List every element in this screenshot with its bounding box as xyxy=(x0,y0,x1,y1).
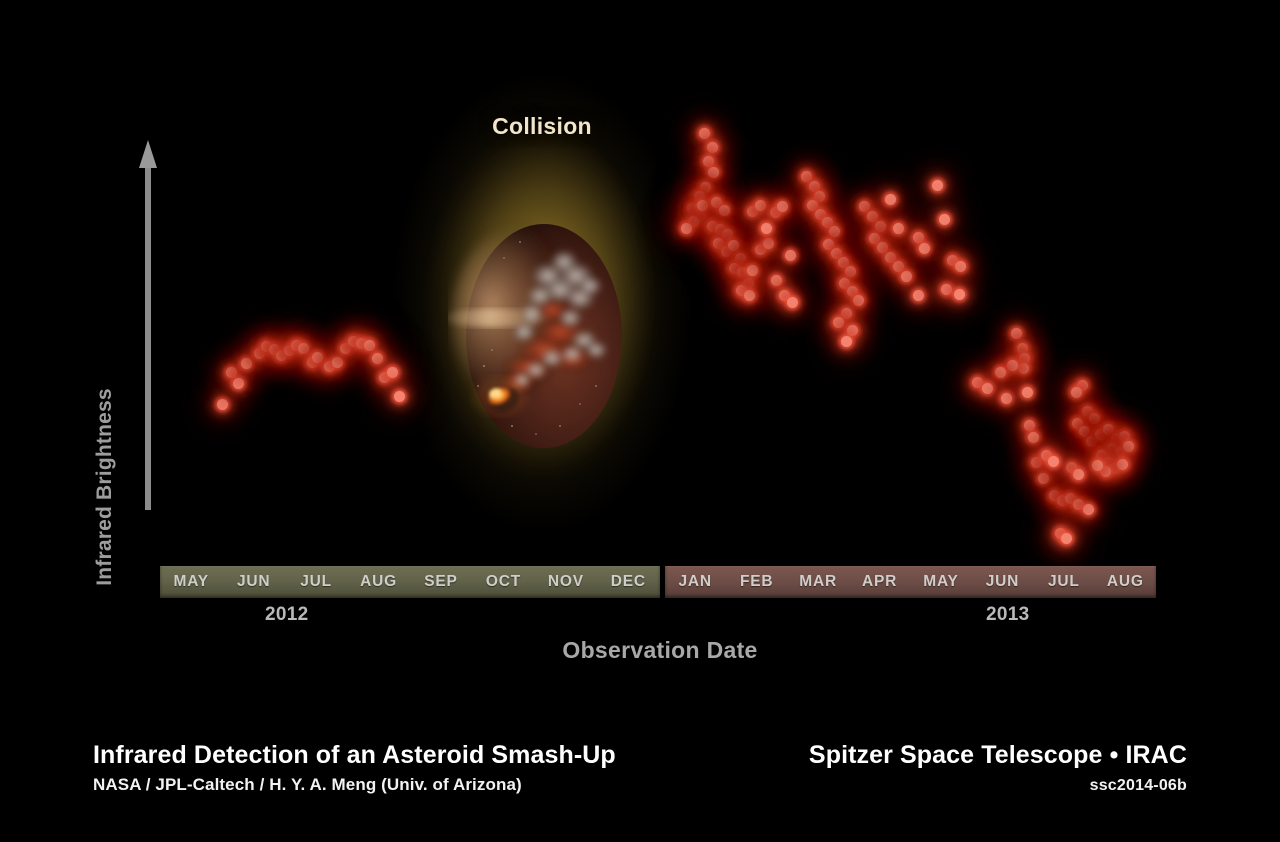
data-point xyxy=(841,308,852,319)
data-point xyxy=(787,297,798,308)
footer-left: Infrared Detection of an Asteroid Smash-… xyxy=(93,740,616,795)
timeline-month-may-2013: MAY xyxy=(910,566,971,598)
data-point xyxy=(913,290,924,301)
data-point xyxy=(737,267,748,278)
timeline-month-jun-2012: JUN xyxy=(222,566,284,598)
collision-glow-backdrop xyxy=(392,0,692,560)
data-point xyxy=(913,232,924,243)
data-point xyxy=(941,284,952,295)
data-point xyxy=(763,238,774,249)
data-point xyxy=(901,271,912,282)
data-point xyxy=(807,200,818,211)
figure-credit: NASA / JPL-Caltech / H. Y. A. Meng (Univ… xyxy=(93,775,616,795)
data-point xyxy=(1024,420,1035,431)
data-point xyxy=(694,191,705,202)
year-label-2013: 2013 xyxy=(986,604,1029,626)
data-point xyxy=(939,214,950,225)
timeline-month-jul-2012: JUL xyxy=(285,566,347,598)
data-point xyxy=(707,221,718,232)
data-point xyxy=(729,263,740,274)
data-point xyxy=(332,357,343,368)
timeline-month-jun-2013: JUN xyxy=(972,566,1033,598)
timeline-month-feb-2013: FEB xyxy=(726,566,787,598)
timeline-month-sep-2012: SEP xyxy=(410,566,472,598)
data-point xyxy=(356,338,367,349)
data-point xyxy=(853,295,864,306)
data-point xyxy=(1079,426,1090,437)
year-label-2012: 2012 xyxy=(265,604,308,626)
data-point xyxy=(324,361,335,372)
data-point xyxy=(364,340,375,351)
footer: Infrared Detection of an Asteroid Smash-… xyxy=(0,740,1280,820)
data-point xyxy=(841,336,852,347)
data-point xyxy=(747,206,758,217)
data-point xyxy=(839,278,850,289)
data-point xyxy=(1017,343,1028,354)
data-point xyxy=(761,223,772,234)
instrument-label: Spitzer Space Telescope • IRAC xyxy=(809,740,1187,771)
data-point xyxy=(1089,413,1100,424)
data-point xyxy=(298,343,309,354)
data-point xyxy=(1028,432,1039,443)
data-point xyxy=(700,182,711,193)
timeline-month-aug-2013: AUG xyxy=(1095,566,1156,598)
timeline-segment-2012: MAYJUNJULAUGSEPOCTNOVDEC xyxy=(160,566,660,598)
data-point xyxy=(1103,457,1114,468)
data-point xyxy=(1031,457,1042,468)
data-point xyxy=(1082,406,1093,417)
data-point xyxy=(715,224,726,235)
data-point xyxy=(1096,450,1107,461)
data-point xyxy=(728,240,739,251)
data-point xyxy=(394,391,405,402)
data-point xyxy=(1100,466,1111,477)
collision-annotation-label: Collision xyxy=(392,113,692,140)
data-point xyxy=(809,181,820,192)
data-point xyxy=(1061,533,1072,544)
data-point xyxy=(1092,460,1103,471)
data-point xyxy=(744,290,755,301)
data-point xyxy=(1001,393,1012,404)
timeline-month-may-2012: MAY xyxy=(160,566,222,598)
data-point xyxy=(847,286,858,297)
data-point xyxy=(893,223,904,234)
data-point xyxy=(312,352,323,363)
data-point xyxy=(703,156,714,167)
data-point xyxy=(785,250,796,261)
data-point xyxy=(1077,380,1088,391)
data-point xyxy=(1011,328,1022,339)
data-point xyxy=(687,203,698,214)
data-point xyxy=(779,290,790,301)
data-point xyxy=(1115,447,1126,458)
data-point xyxy=(1007,360,1018,371)
data-point xyxy=(829,226,840,237)
data-point xyxy=(721,246,732,257)
timeline-segment-2013: JANFEBMARAPRMAYJUNJULAUG xyxy=(665,566,1157,598)
data-point xyxy=(1103,424,1114,435)
data-point xyxy=(982,383,993,394)
data-point xyxy=(387,367,398,378)
data-point xyxy=(1019,353,1030,364)
data-point xyxy=(348,336,359,347)
data-point xyxy=(1073,469,1084,480)
data-point xyxy=(1095,429,1106,440)
timeline-month-jan-2013: JAN xyxy=(665,566,726,598)
data-point xyxy=(1109,463,1120,474)
data-point xyxy=(743,278,754,289)
data-point xyxy=(885,252,896,263)
data-point xyxy=(1107,443,1118,454)
data-point xyxy=(867,211,878,222)
data-point xyxy=(735,253,746,264)
asteroid-collision-artwork xyxy=(448,190,638,470)
data-point xyxy=(1073,499,1084,510)
data-point xyxy=(1086,436,1097,447)
data-point xyxy=(372,353,383,364)
data-point xyxy=(822,217,833,228)
data-point xyxy=(713,238,724,249)
data-point xyxy=(1049,490,1060,501)
timeline-month-jul-2013: JUL xyxy=(1033,566,1094,598)
data-point xyxy=(755,244,766,255)
data-point xyxy=(932,180,943,191)
data-point xyxy=(1057,495,1068,506)
data-point xyxy=(771,275,782,286)
data-point xyxy=(875,221,886,232)
data-point xyxy=(695,210,706,221)
data-point xyxy=(919,243,930,254)
data-point xyxy=(1038,473,1049,484)
data-point xyxy=(995,367,1006,378)
timeline-month-apr-2013: APR xyxy=(849,566,910,598)
timeline-month-aug-2012: AUG xyxy=(347,566,409,598)
timeline-month-mar-2013: MAR xyxy=(787,566,848,598)
data-point xyxy=(1066,462,1077,473)
data-point xyxy=(815,209,826,220)
data-point xyxy=(707,142,718,153)
timeline-axis: MAYJUNJULAUGSEPOCTNOVDEC JANFEBMARAPRMAY… xyxy=(160,566,1156,598)
x-axis-title-container: Observation Date xyxy=(0,637,1280,664)
image-release-id: ssc2014-06b xyxy=(809,777,1187,795)
data-point xyxy=(1083,504,1094,515)
data-point xyxy=(711,197,722,208)
data-point xyxy=(877,242,888,253)
y-axis-label: Infrared Brightness xyxy=(93,357,117,617)
figure-title: Infrared Detection of an Asteroid Smash-… xyxy=(93,740,616,771)
timeline-month-nov-2012: NOV xyxy=(535,566,597,598)
data-point xyxy=(847,325,858,336)
data-point xyxy=(699,128,710,139)
footer-right: Spitzer Space Telescope • IRAC ssc2014-0… xyxy=(809,740,1187,795)
data-point xyxy=(801,171,812,182)
data-point xyxy=(1041,450,1052,461)
data-point xyxy=(747,265,758,276)
data-point xyxy=(885,194,896,205)
data-point xyxy=(955,261,966,272)
data-point xyxy=(719,205,730,216)
data-point xyxy=(1055,528,1066,539)
data-point xyxy=(972,377,983,388)
figure-canvas: Collision Infrared Brightness MAYJUNJULA… xyxy=(0,0,1280,842)
data-point xyxy=(1119,431,1130,442)
data-point xyxy=(777,201,788,212)
data-point xyxy=(697,200,708,211)
data-point xyxy=(722,229,733,240)
data-point xyxy=(681,223,692,234)
data-point xyxy=(307,357,318,368)
data-point xyxy=(340,343,351,354)
data-point xyxy=(708,167,719,178)
timeline-month-dec-2012: DEC xyxy=(597,566,659,598)
data-point xyxy=(869,233,880,244)
data-point xyxy=(1111,433,1122,444)
data-point xyxy=(893,261,904,272)
data-point xyxy=(1072,418,1083,429)
data-point xyxy=(1117,459,1128,470)
data-point xyxy=(833,317,844,328)
data-point xyxy=(954,289,965,300)
x-axis-title: Observation Date xyxy=(562,637,757,663)
data-point xyxy=(831,248,842,259)
data-point xyxy=(755,200,766,211)
data-point xyxy=(947,255,958,266)
data-point xyxy=(1123,441,1134,452)
data-point xyxy=(1071,387,1082,398)
data-point xyxy=(1048,456,1059,467)
data-point xyxy=(814,191,825,202)
data-point xyxy=(770,207,781,218)
data-point xyxy=(379,372,390,383)
data-point xyxy=(859,201,870,212)
data-point xyxy=(1065,493,1076,504)
data-point xyxy=(736,285,747,296)
data-point xyxy=(1018,363,1029,374)
data-point xyxy=(823,239,834,250)
data-point xyxy=(688,216,699,227)
data-point xyxy=(1022,387,1033,398)
timeline-month-oct-2012: OCT xyxy=(472,566,534,598)
y-axis-label-container: Infrared Brightness xyxy=(35,175,295,435)
data-point xyxy=(838,257,849,268)
data-point xyxy=(845,266,856,277)
